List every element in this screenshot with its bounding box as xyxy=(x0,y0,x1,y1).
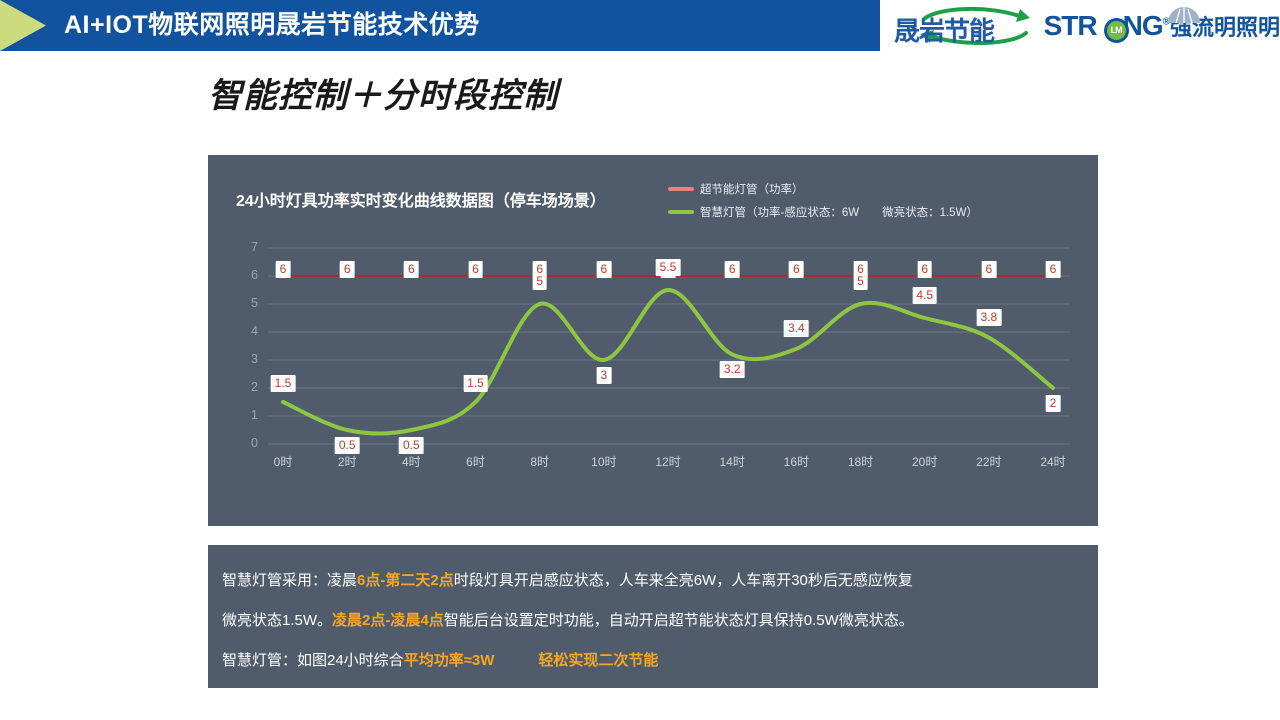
notes-line2-b: 智能后台设置定时功能，自动开启超节能状态灯具保持0.5W微亮状态。 xyxy=(444,612,914,629)
x-axis-tick-label: 22时 xyxy=(966,453,1012,470)
shengyan-logo: 晟岩节能 xyxy=(894,3,1040,49)
shengyan-logo-text: 晟岩节能 xyxy=(894,11,1044,48)
y-axis-tick-label: 2 xyxy=(242,380,258,394)
data-point-label: 6 xyxy=(917,261,932,278)
x-axis-tick-label: 16时 xyxy=(773,453,819,470)
notes-line3-a: 智慧灯管：如图24小时综合 xyxy=(222,652,404,669)
chart-svg xyxy=(208,155,1098,526)
x-axis-tick-label: 12时 xyxy=(645,453,691,470)
chart-panel: 24小时灯具功率实时变化曲线数据图（停车场场景） 超节能灯管（功率） 智慧灯管（… xyxy=(208,155,1098,526)
strong-logo: STRNG® LM 强流明照明 xyxy=(1044,3,1280,49)
data-point-label: 1.5 xyxy=(463,375,488,392)
notes-line2-a: 微亮状态1.5W。 xyxy=(222,612,332,629)
data-point-label: 0.5 xyxy=(399,437,424,454)
notes-line3-highlight-2: 轻松实现二次节能 xyxy=(538,652,658,669)
x-axis-tick-label: 0时 xyxy=(260,453,306,470)
y-axis-tick-label: 5 xyxy=(242,296,258,310)
x-axis-tick-label: 2时 xyxy=(324,453,370,470)
page-header: AI+IOT物联网照明晟岩节能技术优势 晟岩节能 STRNG® LM 强 xyxy=(0,0,1280,51)
chart-plot-area: 0123456766666666666661.50.50.51.5535.53.… xyxy=(208,155,1098,526)
notes-line-1: 智慧灯管采用：凌晨6点-第二天2点时段灯具开启感应状态，人车来全亮6W，人车离开… xyxy=(222,561,1084,601)
notes-line1-highlight: 6点-第二天2点 xyxy=(357,572,454,589)
fan-icon xyxy=(1166,6,1202,24)
data-point-label: 1.5 xyxy=(271,375,296,392)
notes-line2-highlight: 凌晨2点-凌晨4点 xyxy=(332,612,444,629)
data-point-label: 5 xyxy=(853,273,868,290)
x-axis-tick-label: 18时 xyxy=(838,453,884,470)
x-axis-tick-label: 10时 xyxy=(581,453,627,470)
data-point-label: 6 xyxy=(789,261,804,278)
x-axis-tick-label: 24时 xyxy=(1030,453,1076,470)
y-axis-tick-label: 6 xyxy=(242,268,258,282)
data-point-label: 6 xyxy=(276,261,291,278)
x-axis-tick-label: 4时 xyxy=(388,453,434,470)
data-point-label: 0.5 xyxy=(335,437,360,454)
data-point-label: 6 xyxy=(1046,261,1061,278)
y-axis-tick-label: 0 xyxy=(242,436,258,450)
data-point-label: 6 xyxy=(981,261,996,278)
data-point-label: 6 xyxy=(340,261,355,278)
y-axis-tick-label: 7 xyxy=(242,240,258,254)
notes-line1-b: 时段灯具开启感应状态，人车来全亮6W，人车离开30秒后无感应恢复 xyxy=(454,572,913,589)
notes-line-2: 微亮状态1.5W。凌晨2点-凌晨4点智能后台设置定时功能，自动开启超节能状态灯具… xyxy=(222,601,1084,641)
strong-text-head: STR xyxy=(1044,10,1097,41)
logo-lm-text: LM xyxy=(1107,21,1126,40)
section-subtitle: 智能控制＋分时段控制 xyxy=(208,68,558,117)
x-axis-tick-label: 14时 xyxy=(709,453,755,470)
strong-wordmark: STRNG® LM xyxy=(1044,10,1169,42)
data-point-label: 3.8 xyxy=(976,309,1001,326)
notes-panel: 智慧灯管采用：凌晨6点-第二天2点时段灯具开启感应状态，人车来全亮6W，人车离开… xyxy=(208,545,1098,688)
company-logo: 晟岩节能 STRNG® LM 强流明照明 xyxy=(880,0,1280,51)
y-axis-tick-label: 4 xyxy=(242,324,258,338)
data-point-label: 6 xyxy=(596,261,611,278)
data-point-label: 5.5 xyxy=(656,259,681,276)
data-point-label: 3.2 xyxy=(720,361,745,378)
data-point-label: 5 xyxy=(532,273,547,290)
data-point-label: 6 xyxy=(725,261,740,278)
header-arrow-icon xyxy=(0,0,46,51)
y-axis-tick-label: 3 xyxy=(242,352,258,366)
page-title: AI+IOT物联网照明晟岩节能技术优势 xyxy=(64,9,480,42)
data-point-label: 3 xyxy=(596,367,611,384)
strong-text-tail: NG xyxy=(1123,10,1163,41)
notes-line-3: 智慧灯管：如图24小时综合平均功率≈3W轻松实现二次节能 xyxy=(222,641,1084,681)
series-line xyxy=(283,290,1053,434)
data-point-label: 6 xyxy=(468,261,483,278)
notes-line1-a: 智慧灯管采用：凌晨 xyxy=(222,572,357,589)
x-axis-tick-label: 20时 xyxy=(902,453,948,470)
x-axis-tick-label: 8时 xyxy=(517,453,563,470)
y-axis-tick-label: 1 xyxy=(242,408,258,422)
notes-line3-highlight-1: 平均功率≈3W xyxy=(404,652,495,669)
data-point-label: 6 xyxy=(404,261,419,278)
data-point-label: 4.5 xyxy=(912,287,937,304)
data-point-label: 2 xyxy=(1046,395,1061,412)
data-point-label: 3.4 xyxy=(784,320,809,337)
x-axis-tick-label: 6时 xyxy=(453,453,499,470)
logo-o-ring-icon: LM xyxy=(1104,18,1129,43)
